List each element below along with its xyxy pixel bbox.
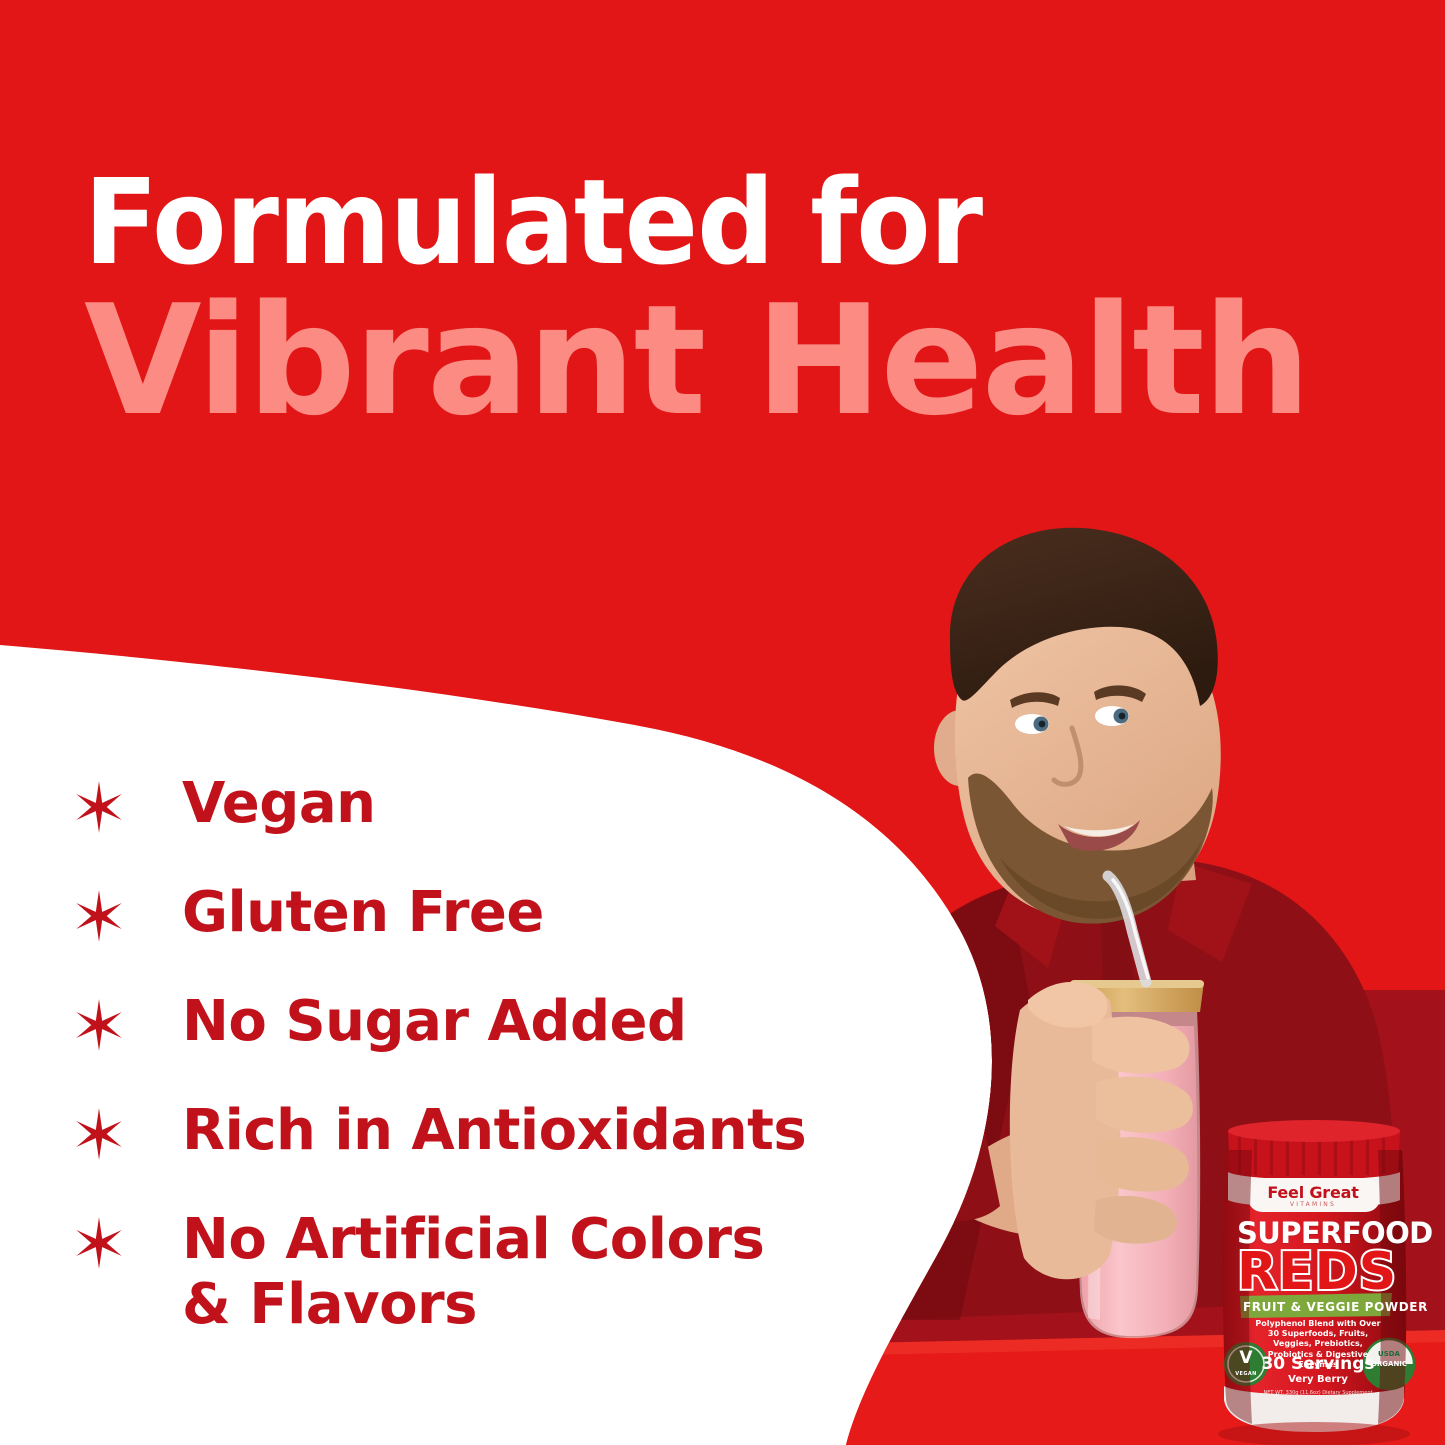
asterisk-icon [72,1216,126,1270]
headline-line-2: Vibrant Health [84,291,1414,431]
benefit-item-no-sugar-added: No Sugar Added [72,990,872,1055]
headline-block: Formulated for Vibrant Health [84,168,1414,430]
benefits-list: Vegan Gluten Free [72,772,872,1338]
asterisk-icon [72,780,126,834]
benefit-label: Vegan [182,772,376,837]
benefit-item-rich-in-antioxidants: Rich in Antioxidants [72,1099,872,1164]
promo-banner: Formulated for Vibrant Health [0,0,1445,1445]
asterisk-icon [72,998,126,1052]
benefit-label: Rich in Antioxidants [182,1099,806,1164]
benefit-item-gluten-free: Gluten Free [72,881,872,946]
benefit-item-no-artificial-colors-flavors: No Artificial Colors & Flavors [72,1208,872,1338]
benefit-label: No Sugar Added [182,990,687,1055]
asterisk-icon [72,1107,126,1161]
benefit-label: Gluten Free [182,881,544,946]
benefit-label: No Artificial Colors & Flavors [182,1208,764,1338]
headline-line-1: Formulated for [84,168,1441,277]
asterisk-icon [72,889,126,943]
benefit-item-vegan: Vegan [72,772,872,837]
